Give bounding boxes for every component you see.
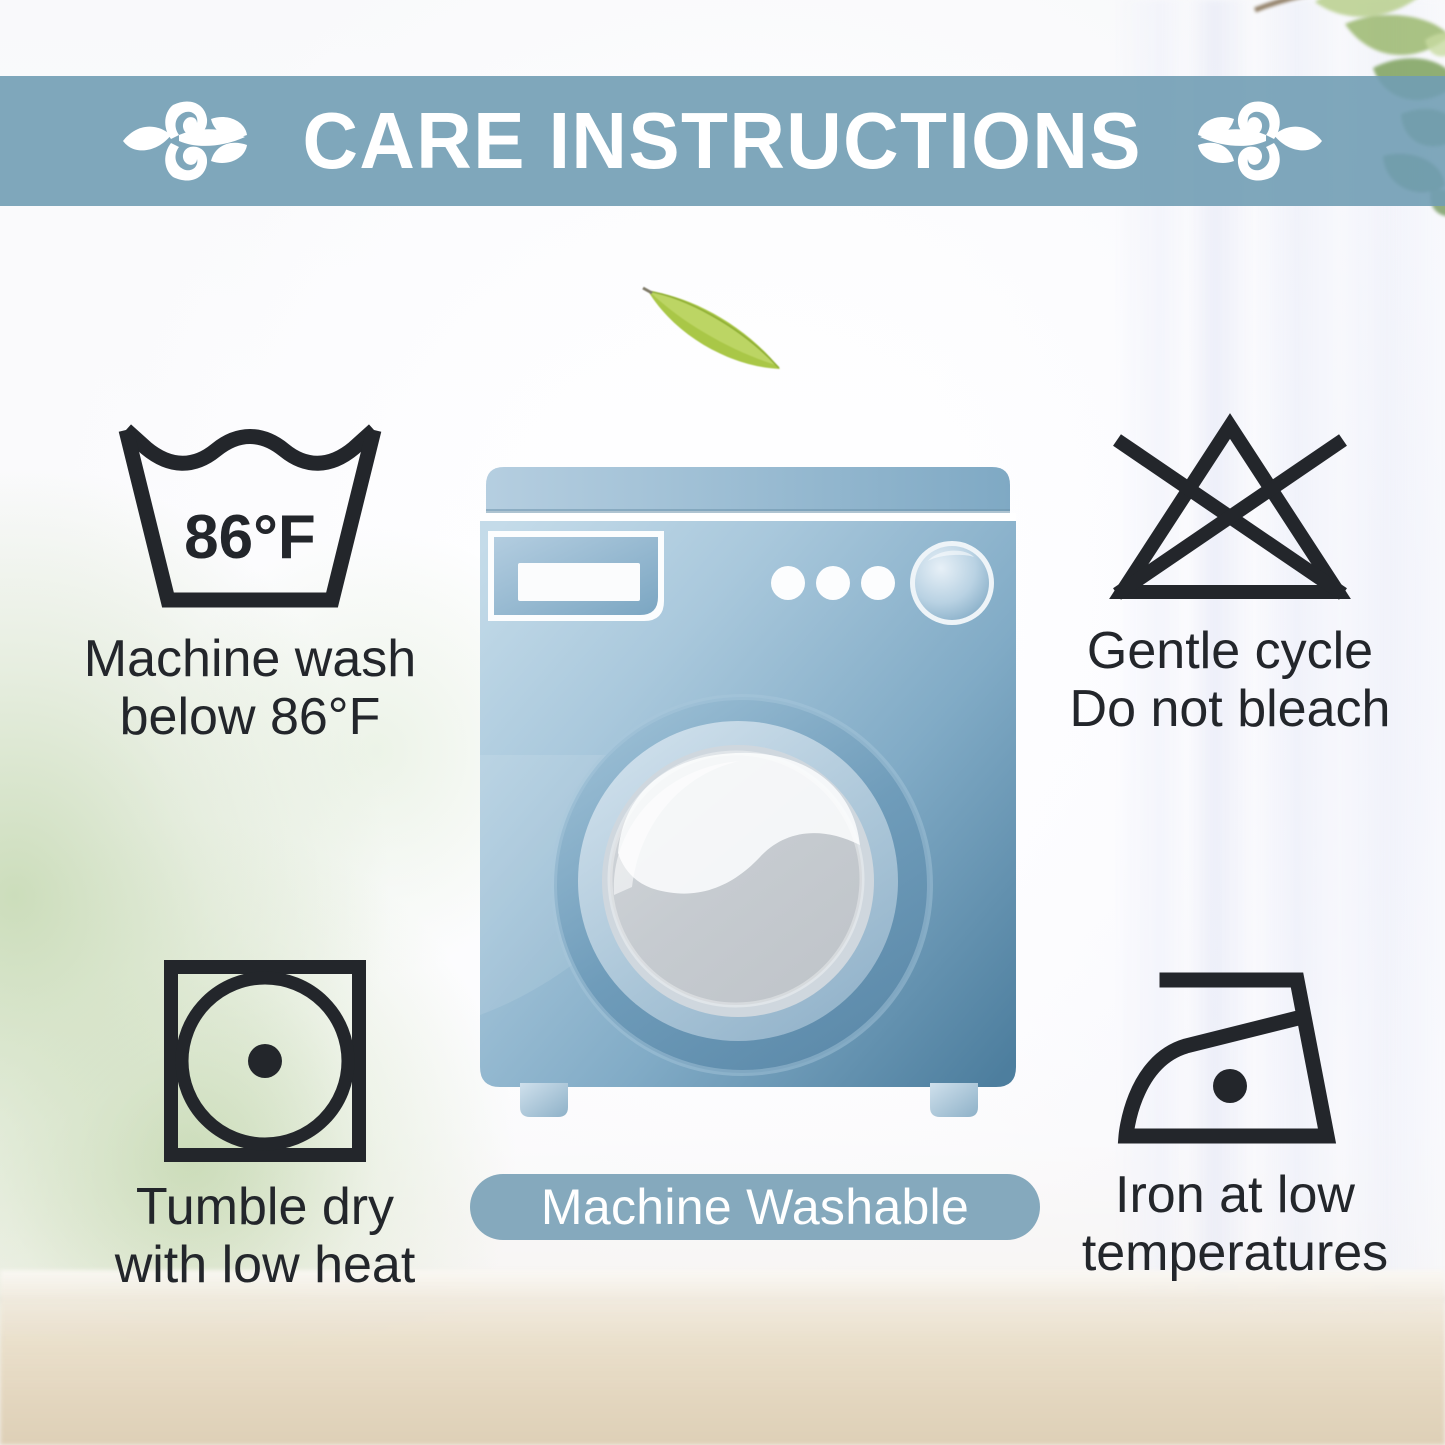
care-label-machine-wash: Machine wash below 86°F: [84, 630, 416, 746]
page-title: CARE INSTRUCTIONS: [303, 101, 1142, 181]
washer-door: [554, 697, 930, 1073]
crossed-triangle-icon: [1099, 412, 1361, 608]
wooden-table-surface: [0, 1270, 1445, 1445]
fleur-de-lis-icon: [1194, 95, 1326, 187]
care-instructions-infographic: CARE INSTRUCTIONS 86°F Machine wash belo…: [0, 0, 1445, 1445]
care-symbol-tumble-dry: Tumble dry with low heat: [55, 958, 475, 1294]
machine-top-cap: [486, 467, 1010, 511]
care-symbol-iron: Iron at low temperatures: [1030, 958, 1440, 1282]
control-knob: [910, 541, 994, 625]
wash-temperature-value: 86°F: [184, 503, 316, 572]
floating-leaf-icon: [640, 275, 790, 375]
tumble-dry-low-icon: [162, 958, 368, 1164]
indicator-lights: [771, 566, 895, 600]
iron-one-dot-icon: [1112, 958, 1358, 1152]
machine-feet: [520, 1083, 978, 1117]
care-symbol-do-not-bleach: Gentle cycle Do not bleach: [1020, 412, 1440, 738]
care-label-tumble-dry: Tumble dry with low heat: [115, 1178, 416, 1294]
wash-basin-icon: 86°F: [112, 418, 388, 616]
machine-washable-badge: Machine Washable: [470, 1174, 1040, 1240]
care-label-iron: Iron at low temperatures: [1082, 1166, 1388, 1282]
care-label-do-not-bleach: Gentle cycle Do not bleach: [1070, 622, 1391, 738]
badge-label: Machine Washable: [541, 1182, 969, 1232]
header-banner: CARE INSTRUCTIONS: [0, 76, 1445, 206]
washing-machine-illustration: [468, 455, 1028, 1135]
fleur-de-lis-icon: [119, 95, 251, 187]
display-panel: [488, 531, 664, 621]
care-symbol-machine-wash: 86°F Machine wash below 86°F: [40, 418, 460, 746]
